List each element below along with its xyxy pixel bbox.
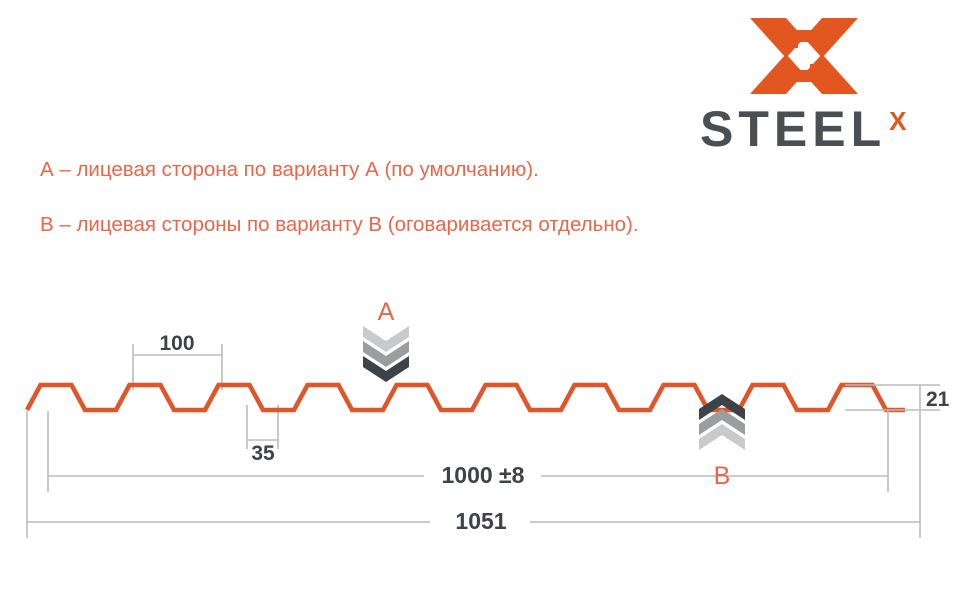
side-b-marker-letter: В — [714, 462, 731, 490]
dim-1000-label: 1000 ±8 — [442, 462, 525, 488]
drawing-page: STEEL X А – лицевая сторона по варианту … — [0, 0, 970, 593]
dim-1051-label: 1051 — [455, 508, 506, 534]
corrugated-profile-line — [27, 385, 905, 410]
profile-technical-drawing: 100 35 21 1000 ±8 1051 — [0, 0, 970, 593]
side-a-marker: А — [363, 298, 409, 382]
dim-35-label: 35 — [251, 442, 275, 465]
side-a-marker-letter: А — [378, 298, 395, 326]
dim-100-label: 100 — [159, 332, 194, 355]
dim-21-label: 21 — [926, 388, 950, 411]
